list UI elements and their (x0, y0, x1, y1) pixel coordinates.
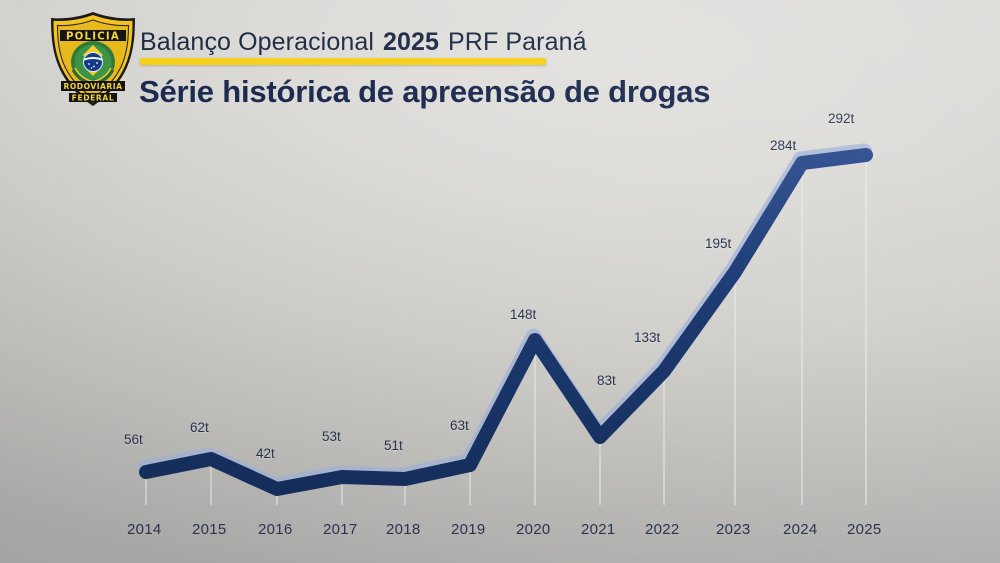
x-axis-label-2014: 2014 (127, 521, 162, 538)
x-axis-label-2023: 2023 (716, 521, 751, 538)
value-label-2021: 83t (597, 373, 616, 388)
subtitle-row: Balanço Operacional2025PRF Paraná (140, 28, 587, 57)
subtitle-suffix: PRF Paraná (448, 28, 587, 56)
value-label-2014: 56t (124, 432, 143, 447)
page-title: Série histórica de apreensão de drogas (139, 74, 710, 110)
gridlines-group (146, 161, 866, 505)
prf-brasao-badge-icon: POLICIA (47, 10, 139, 108)
svg-text:POLICIA: POLICIA (66, 31, 120, 42)
value-label-2024: 284t (770, 138, 796, 153)
x-axis-label-2021: 2021 (581, 521, 616, 538)
x-axis-label-2022: 2022 (645, 521, 680, 538)
value-label-2015: 62t (190, 420, 209, 435)
x-axis-label-2017: 2017 (323, 521, 358, 538)
x-axis-label-2015: 2015 (192, 521, 227, 538)
series-highlight-stroke (145, 151, 865, 485)
value-label-2018: 51t (384, 438, 403, 453)
value-label-2020: 148t (510, 307, 536, 322)
series-main-stroke (146, 155, 866, 489)
value-label-2023: 195t (705, 236, 731, 251)
infographic-canvas: 56t62t42t53t51t63t148t83t133t195t284t292… (0, 0, 1000, 563)
x-axis-label-2016: 2016 (258, 521, 293, 538)
subtitle-year: 2025 (383, 28, 439, 56)
header: POLICIA (0, 0, 1000, 130)
yellow-accent-rule (140, 58, 546, 65)
value-label-2019: 63t (450, 418, 469, 433)
subtitle-prefix: Balanço Operacional (140, 28, 374, 56)
x-axis-label-2025: 2025 (847, 521, 882, 538)
x-axis-label-2024: 2024 (783, 521, 818, 538)
value-label-2017: 53t (322, 429, 341, 444)
value-label-2022: 133t (634, 330, 660, 345)
x-axis-label-2018: 2018 (386, 521, 421, 538)
svg-text:RODOVIARIA: RODOVIARIA (64, 82, 123, 91)
x-axis-label-2019: 2019 (451, 521, 486, 538)
value-label-2016: 42t (256, 446, 275, 461)
series-group (145, 151, 867, 489)
svg-text:FEDERAL: FEDERAL (72, 93, 115, 102)
x-axis-label-2020: 2020 (516, 521, 551, 538)
